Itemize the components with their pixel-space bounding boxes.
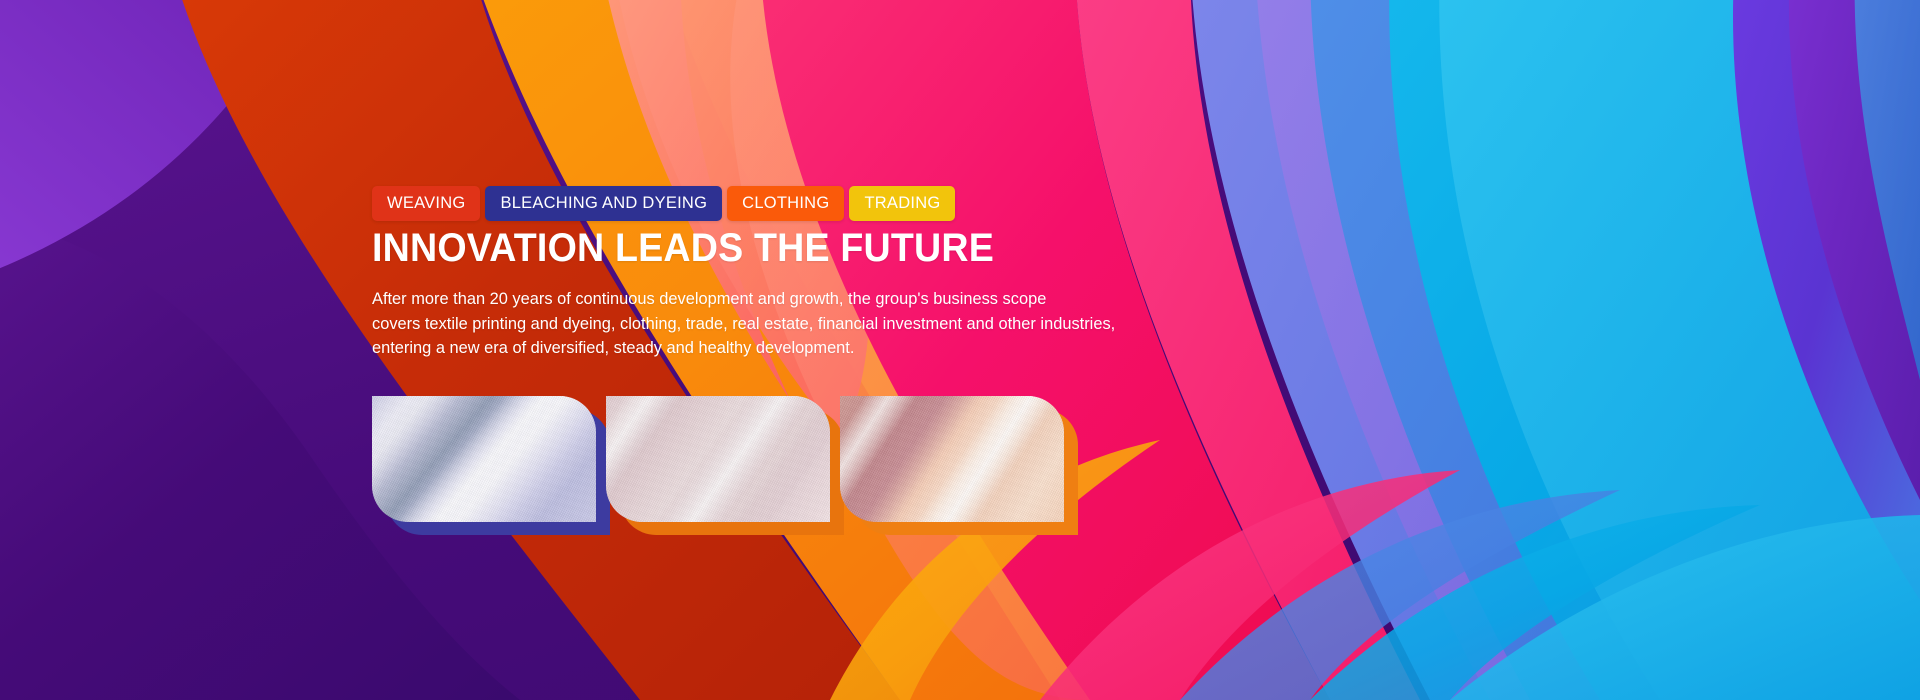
hero-content: WEAVING BLEACHING AND DYEING CLOTHING TR… bbox=[372, 0, 1572, 700]
fabric-thumbnail-gallery bbox=[372, 396, 1064, 522]
weave-overlay bbox=[372, 396, 596, 522]
fabric-card-1 bbox=[372, 396, 596, 522]
category-tab-bar: WEAVING BLEACHING AND DYEING CLOTHING TR… bbox=[372, 186, 955, 221]
fabric-thumbnail-lavender-silk[interactable] bbox=[372, 396, 596, 522]
fabric-card-2 bbox=[606, 396, 830, 522]
tab-bleaching-and-dyeing[interactable]: BLEACHING AND DYEING bbox=[485, 186, 722, 221]
hero-description-line-2: covers textile printing and dyeing, clot… bbox=[372, 312, 1173, 337]
hero-description-line-3: entering a new era of diversified, stead… bbox=[372, 336, 1173, 361]
hero-description: After more than 20 years of continuous d… bbox=[372, 287, 1173, 361]
hero-description-line-1: After more than 20 years of continuous d… bbox=[372, 287, 1173, 312]
fabric-thumbnail-blush-satin[interactable] bbox=[606, 396, 830, 522]
fabric-card-3 bbox=[840, 396, 1064, 522]
hero-banner: WEAVING BLEACHING AND DYEING CLOTHING TR… bbox=[0, 0, 1920, 700]
tab-trading[interactable]: TRADING bbox=[849, 186, 955, 221]
fabric-thumbnail-peach-satin[interactable] bbox=[840, 396, 1064, 522]
weave-overlay bbox=[840, 396, 1064, 522]
tab-clothing[interactable]: CLOTHING bbox=[727, 186, 844, 221]
weave-overlay bbox=[606, 396, 830, 522]
page-title: INNOVATION LEADS THE FUTURE bbox=[372, 228, 994, 268]
tab-weaving[interactable]: WEAVING bbox=[372, 186, 480, 221]
